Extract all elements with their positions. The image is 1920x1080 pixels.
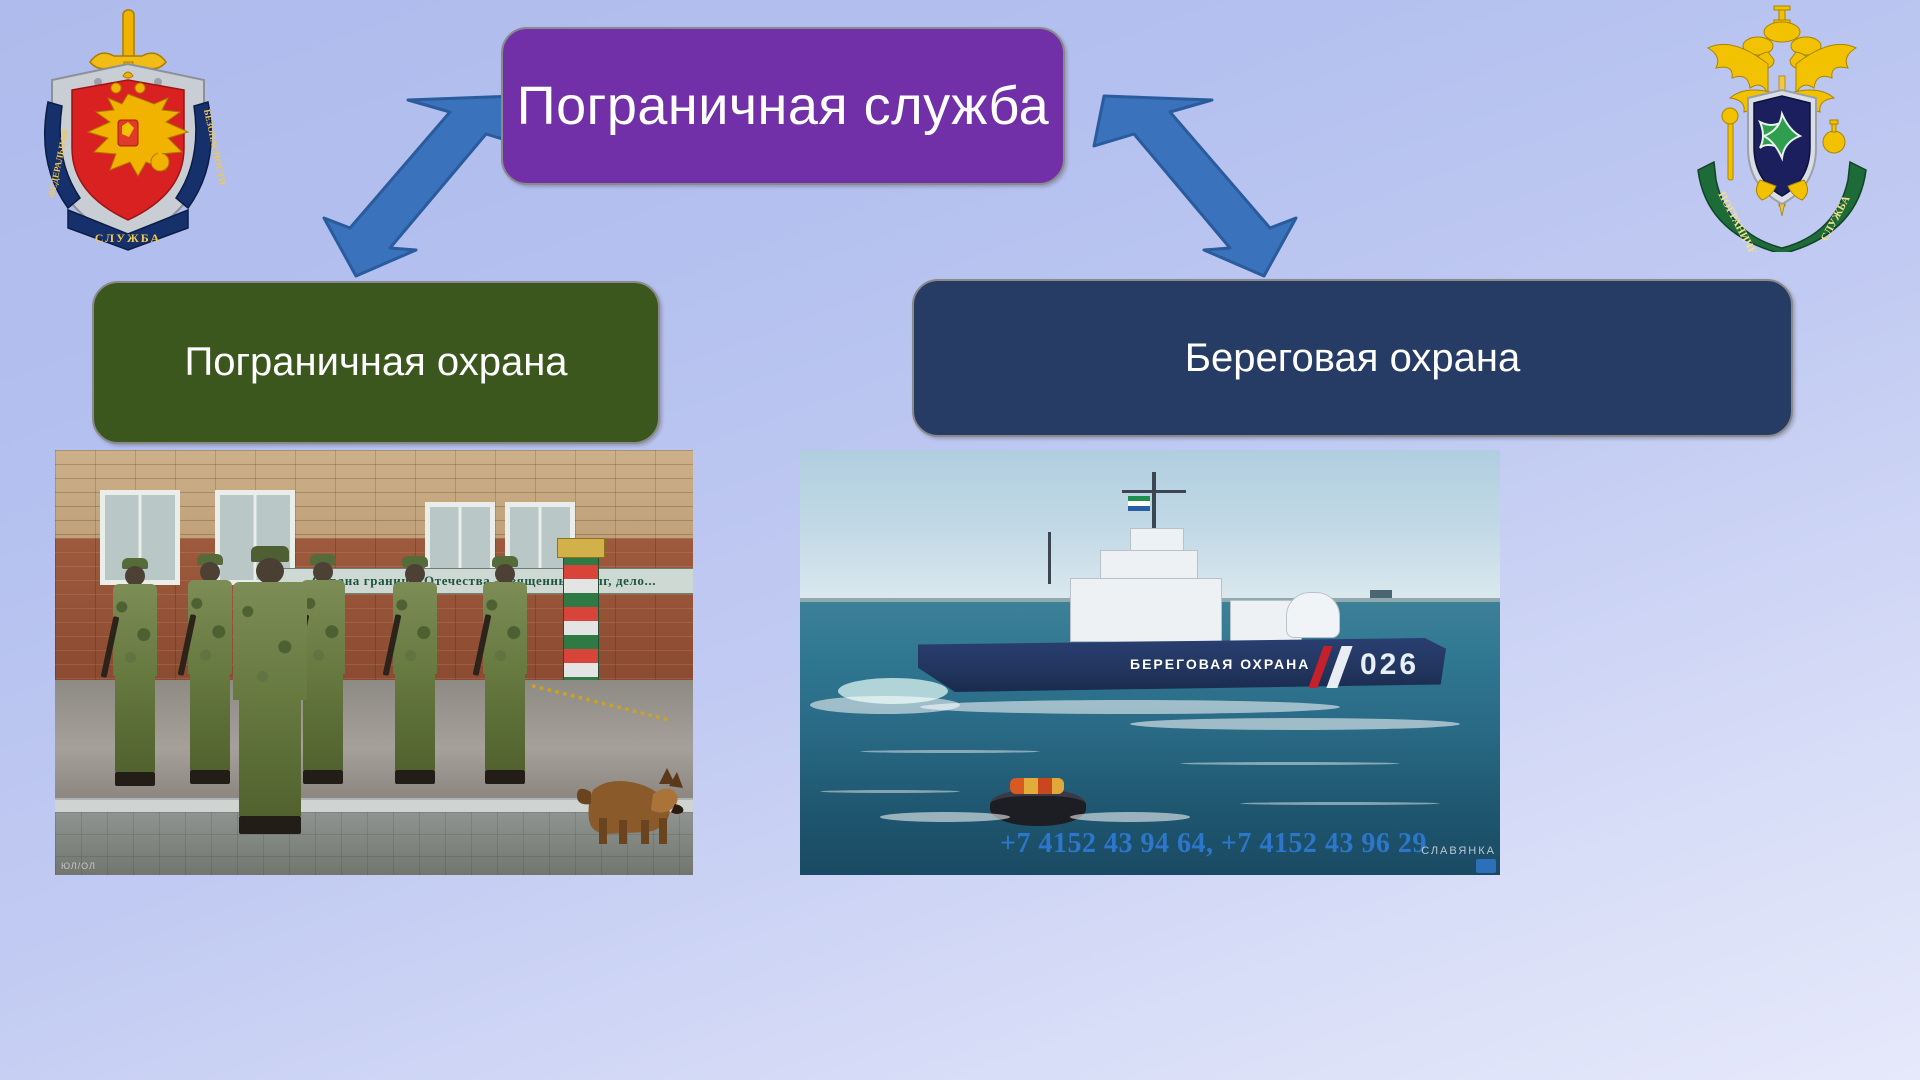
arrow-down-right-icon [1080, 90, 1320, 280]
fsb-emblem: СЛУЖБА ФЕДЕРАЛЬНАЯ БЕЗОПАСНОСТИ [28, 2, 228, 252]
soldier [475, 556, 535, 790]
fsb-banner-bottom: СЛУЖБА [95, 231, 161, 245]
service-dog [575, 750, 685, 846]
branch-label-coast-guard: Береговая охрана [1185, 336, 1520, 381]
coast-guard-photo: БЕРЕГОВАЯ ОХРАНА 026 +7 4152 43 94 64, +… [800, 450, 1500, 875]
ship-flag [1128, 496, 1150, 511]
branch-label-border-guard: Пограничная охрана [184, 340, 567, 385]
border-banner-right: СЛУЖБА [1819, 194, 1853, 244]
ship-yard [1122, 490, 1186, 493]
border-post-crest [557, 538, 605, 558]
photo-watermark: СЛАВЯНКА [1421, 845, 1496, 857]
border-guard-photo: Охрана границы Отечества - священный дол… [55, 450, 693, 875]
ship-radar-dome [1286, 592, 1340, 638]
title-box[interactable]: Пограничная служба [501, 27, 1065, 185]
soldier [385, 556, 445, 790]
photo-watermark: ЮЛ/ОЛ [61, 861, 96, 871]
title-label: Пограничная служба [517, 75, 1049, 137]
ship-mast-secondary [1048, 532, 1051, 584]
ship-bridge [1070, 578, 1222, 642]
boat-crew [1010, 778, 1064, 794]
slide-root: СЛУЖБА ФЕДЕРАЛЬНАЯ БЕЗОПАСНОСТИ [0, 0, 1920, 1080]
watermark-badge-icon [1476, 859, 1496, 873]
soldier [105, 558, 165, 790]
distant-vessel [1370, 590, 1392, 598]
officer-back-view [225, 546, 315, 846]
branch-box-border-guard[interactable]: Пограничная охрана [92, 281, 660, 444]
border-service-emblem: ПОГРАНИЧНАЯ СЛУЖБА [1682, 2, 1882, 252]
branch-box-coast-guard[interactable]: Береговая охрана [912, 279, 1793, 437]
inflatable-boat [990, 790, 1086, 826]
ship-hull-number: 026 [1360, 648, 1419, 682]
ship-name-text: БЕРЕГОВАЯ ОХРАНА [1130, 656, 1310, 672]
ship-mast [1152, 472, 1156, 532]
